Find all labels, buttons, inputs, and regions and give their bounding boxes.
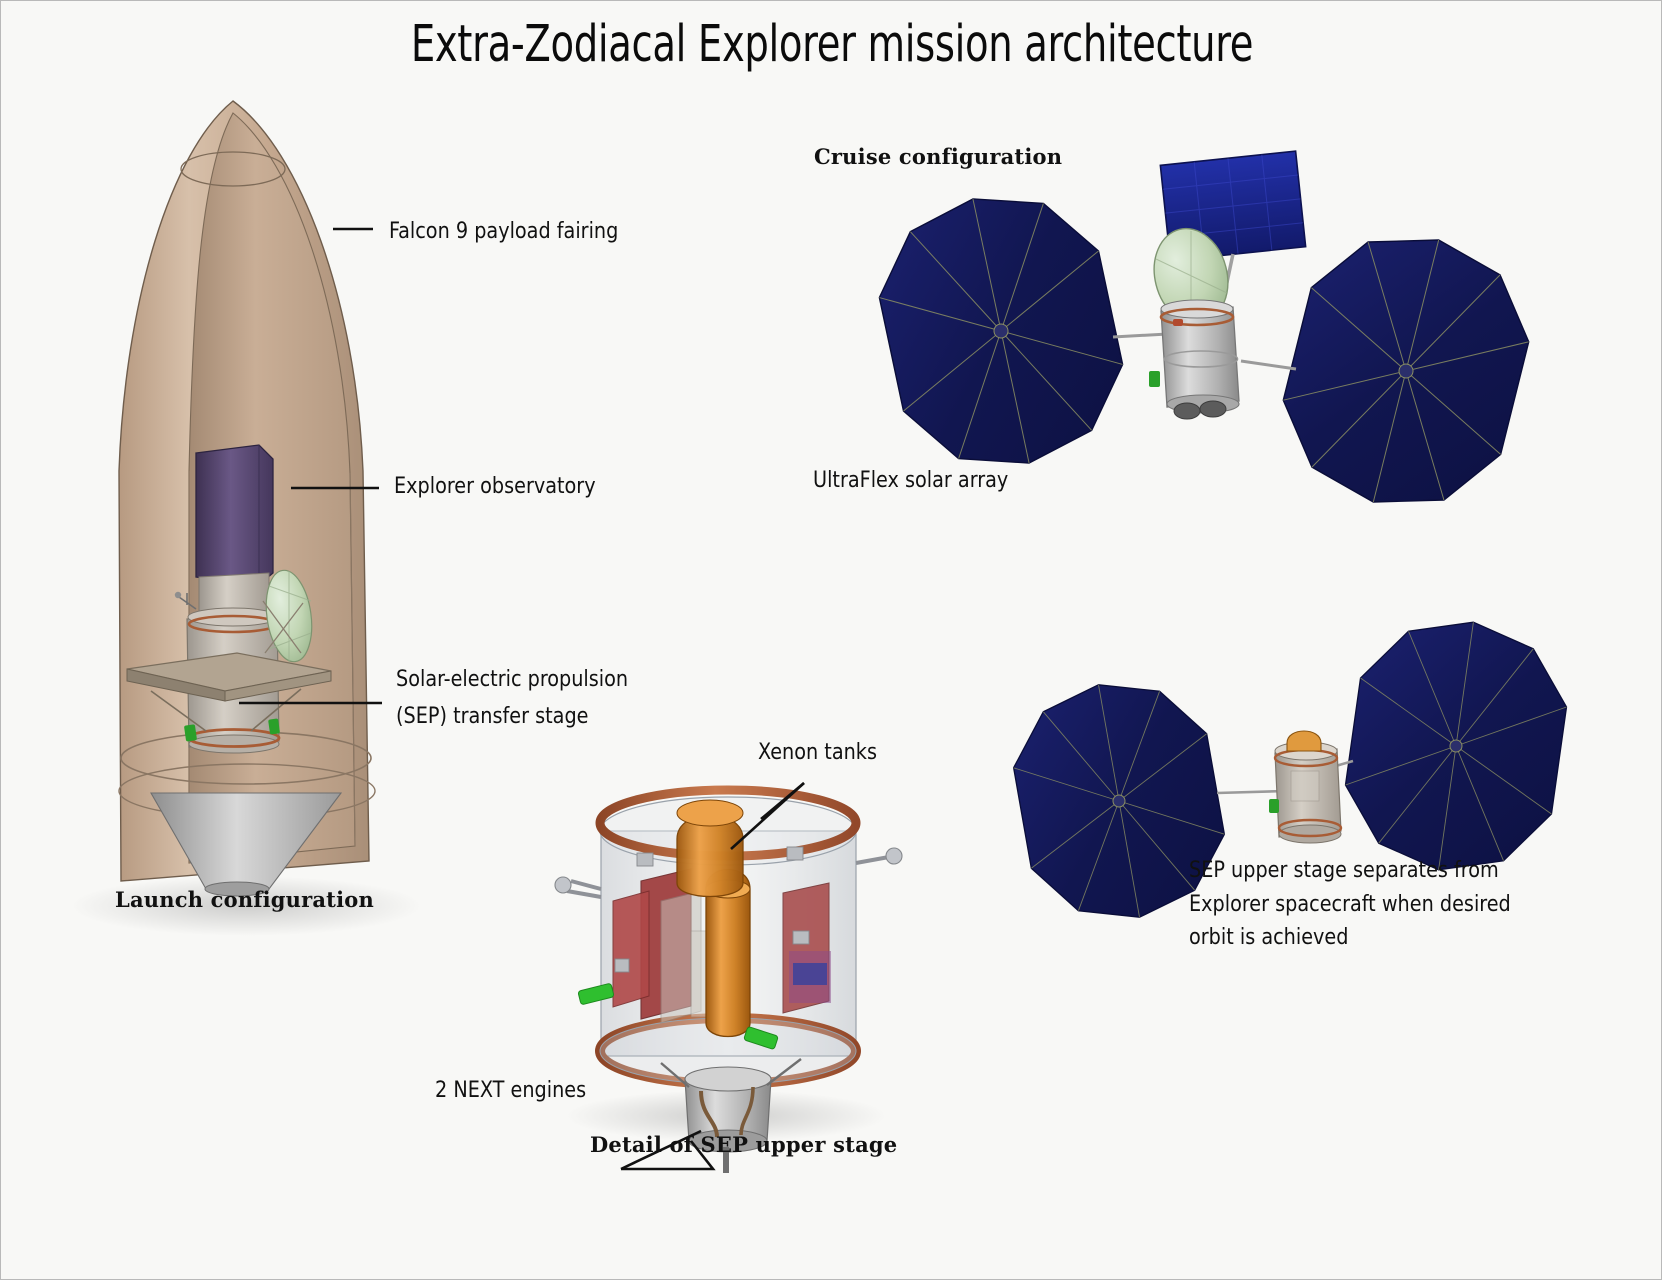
separation-note-line-1: SEP upper stage separates from xyxy=(1189,859,1511,882)
separation-note-line-3: orbit is achieved xyxy=(1189,926,1511,949)
label-xenon-tanks: Xenon tanks xyxy=(758,739,877,765)
caption-cruise-configuration: Cruise configuration xyxy=(814,144,1062,169)
diagram-artwork xyxy=(1,1,1662,1280)
launch-configuration-graphic xyxy=(71,101,421,936)
label-sep-transfer-stage-line1: Solar-electric propulsion xyxy=(396,666,628,692)
sep-upper-stage-graphic xyxy=(555,783,902,1173)
caption-sep-detail: Detail of SEP upper stage xyxy=(590,1132,897,1157)
diagram-canvas: Extra-Zodiacal Explorer mission architec… xyxy=(0,0,1662,1280)
label-explorer-observatory: Explorer observatory xyxy=(394,473,596,499)
label-next-engines: 2 NEXT engines xyxy=(435,1077,586,1103)
separation-note-line-2: Explorer spacecraft when desired xyxy=(1189,893,1511,916)
separation-note: SEP upper stage separates from Explorer … xyxy=(1189,859,1511,960)
caption-launch-configuration: Launch configuration xyxy=(115,887,374,912)
label-falcon-9-fairing: Falcon 9 payload fairing xyxy=(389,218,618,244)
label-sep-transfer-stage-line2: (SEP) transfer stage xyxy=(396,703,588,729)
label-ultraflex-solar-array: UltraFlex solar array xyxy=(813,467,1008,493)
page-title: Extra-Zodiacal Explorer mission architec… xyxy=(134,15,1530,74)
